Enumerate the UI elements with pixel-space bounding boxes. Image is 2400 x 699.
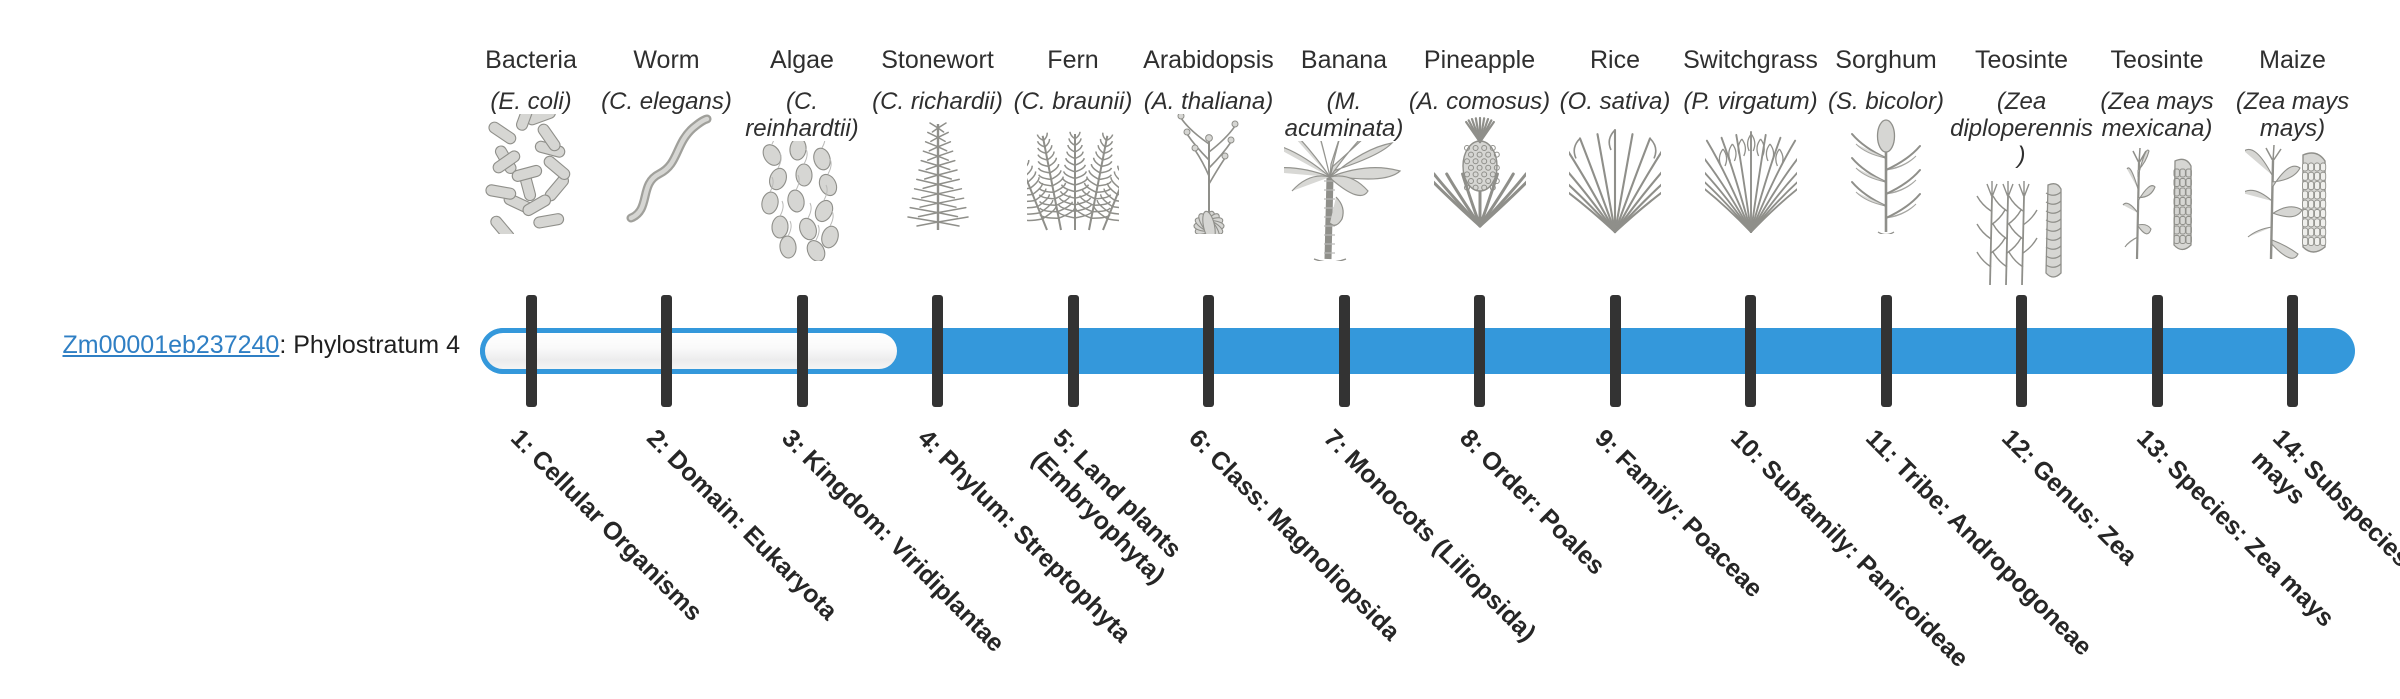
phylostratum-progress-unfilled [480, 328, 902, 374]
species-common-name: Maize [2218, 46, 2368, 75]
species-common-name: Rice [1540, 46, 1690, 75]
species-scientific-name: (P. virgatum) [1676, 89, 1826, 116]
stage-tick-14 [2287, 295, 2298, 407]
species-column: Fern(C. braunii) [998, 46, 1148, 234]
rank-number: 11: [1860, 424, 1904, 468]
stage-tick-13 [2152, 295, 2163, 407]
species-scientific-name: (Zea mays mexicana) [2082, 89, 2232, 143]
rank-name: Family: Poaceae [1610, 445, 1768, 603]
rank-number: 12: [1996, 424, 2041, 469]
species-column: Sorghum(S. bicolor) [1811, 46, 1961, 234]
gene-label-separator: : [279, 331, 293, 359]
stage-tick-1 [526, 295, 537, 407]
species-column: Algae(C. reinhardtii) [727, 46, 877, 261]
species-common-name: Fern [998, 46, 1148, 75]
banana-tree-icon [1269, 151, 1419, 261]
species-scientific-name: (Zea mays mays) [2218, 89, 2368, 143]
species-scientific-name: (A. thaliana) [1134, 89, 1284, 116]
stage-tick-10 [1745, 295, 1756, 407]
rank-number: 13: [2131, 424, 2176, 469]
stage-tick-12 [2016, 295, 2027, 407]
teosinte-diploperennis-icon [1947, 177, 2097, 287]
arabidopsis-rosette-icon [1134, 124, 1284, 234]
species-scientific-name: (C. richardii) [863, 89, 1013, 116]
species-scientific-name: (A. comosus) [1405, 89, 1555, 116]
species-scientific-name: (S. bicolor) [1811, 89, 1961, 116]
maize-plant-ear-icon [2218, 151, 2368, 261]
species-column: Worm(C. elegans) [592, 46, 742, 234]
fern-frond-icon [998, 124, 1148, 234]
teosinte-mexicana-icon [2082, 151, 2232, 261]
sorghum-plant-icon [1811, 124, 1961, 234]
species-scientific-name: (M. acuminata) [1269, 89, 1419, 143]
species-column: Maize(Zea mays mays) [2218, 46, 2368, 261]
species-common-name: Stonewort [863, 46, 1013, 75]
stage-tick-7 [1339, 295, 1350, 407]
rank-label-8: 8: Order: Poales [1453, 424, 1707, 678]
stage-tick-11 [1881, 295, 1892, 407]
rank-number: 10: [1725, 424, 1770, 469]
stage-tick-6 [1203, 295, 1214, 407]
species-column: Pineapple(A. comosus) [1405, 46, 1555, 234]
species-scientific-name: (C. elegans) [592, 89, 742, 116]
rice-plant-icon [1540, 124, 1690, 234]
species-common-name: Algae [727, 46, 877, 75]
species-column: Teosinte(Zea mays mexicana) [2082, 46, 2232, 261]
rank-label-10: 10: Subfamily: Panicoideae [1724, 424, 1978, 678]
stage-tick-8 [1474, 295, 1485, 407]
species-column: Teosinte(Zea diploperennis) [1947, 46, 2097, 287]
gene-id-link[interactable]: Zm00001eb237240 [62, 331, 279, 359]
switchgrass-icon [1676, 124, 1826, 234]
species-scientific-name: (O. sativa) [1540, 89, 1690, 116]
stage-tick-9 [1610, 295, 1621, 407]
species-common-name: Pineapple [1405, 46, 1555, 75]
nematode-worm-icon [592, 124, 742, 234]
species-scientific-name: (Zea diploperennis) [1947, 89, 2097, 170]
rank-label-9: 9: Family: Poaceae [1588, 424, 1842, 678]
species-common-name: Teosinte [1947, 46, 2097, 75]
stage-tick-4 [932, 295, 943, 407]
algae-cells-icon [727, 151, 877, 261]
species-column: Rice(O. sativa) [1540, 46, 1690, 234]
species-column: Bacteria(E. coli) [456, 46, 606, 234]
species-scientific-name: (C. reinhardtii) [727, 89, 877, 143]
rank-name: Order: Poales [1474, 445, 1610, 581]
phylostratum-value-text: Phylostratum 4 [293, 331, 460, 359]
species-column: Arabidopsis(A. thaliana) [1134, 46, 1284, 234]
rank-label-2: 2: Domain: Eukaryota [640, 424, 894, 678]
species-common-name: Arabidopsis [1134, 46, 1284, 75]
species-common-name: Switchgrass [1676, 46, 1826, 75]
species-column: Banana(M. acuminata) [1269, 46, 1419, 261]
gene-phylostratum-label: Zm00001eb237240: Phylostratum 4 [40, 332, 460, 360]
pineapple-plant-icon [1405, 124, 1555, 234]
species-common-name: Teosinte [2082, 46, 2232, 75]
stage-tick-5 [1068, 295, 1079, 407]
stage-tick-2 [661, 295, 672, 407]
rank-label-11: 11: Tribe: Andropogoneae [1859, 424, 2113, 678]
rank-name: Genus: Zea [2026, 454, 2142, 570]
species-scientific-name: (C. braunii) [998, 89, 1148, 116]
stonewort-plant-icon [863, 124, 1013, 234]
rank-label-1: 1: Cellular Organisms [504, 424, 758, 678]
species-common-name: Banana [1269, 46, 1419, 75]
species-scientific-name: (E. coli) [456, 89, 606, 116]
species-column: Switchgrass(P. virgatum) [1676, 46, 1826, 234]
phylostratum-timeline-figure: Zm00001eb237240: Phylostratum 4 Bacteria… [0, 0, 2400, 580]
stage-tick-3 [797, 295, 808, 407]
species-column: Stonewort(C. richardii) [863, 46, 1013, 234]
rank-label-3: 3: Kingdom: Viridiplantae [775, 424, 1029, 678]
bacteria-rods-icon [456, 124, 606, 234]
phylostratum-progress-bar[interactable] [480, 328, 2355, 374]
rank-label-7: 7: Monocots (Liliopsida) [1317, 424, 1571, 678]
species-common-name: Sorghum [1811, 46, 1961, 75]
species-common-name: Bacteria [456, 46, 606, 75]
rank-label-12: 12: Genus: Zea [1995, 424, 2249, 678]
species-common-name: Worm [592, 46, 742, 75]
